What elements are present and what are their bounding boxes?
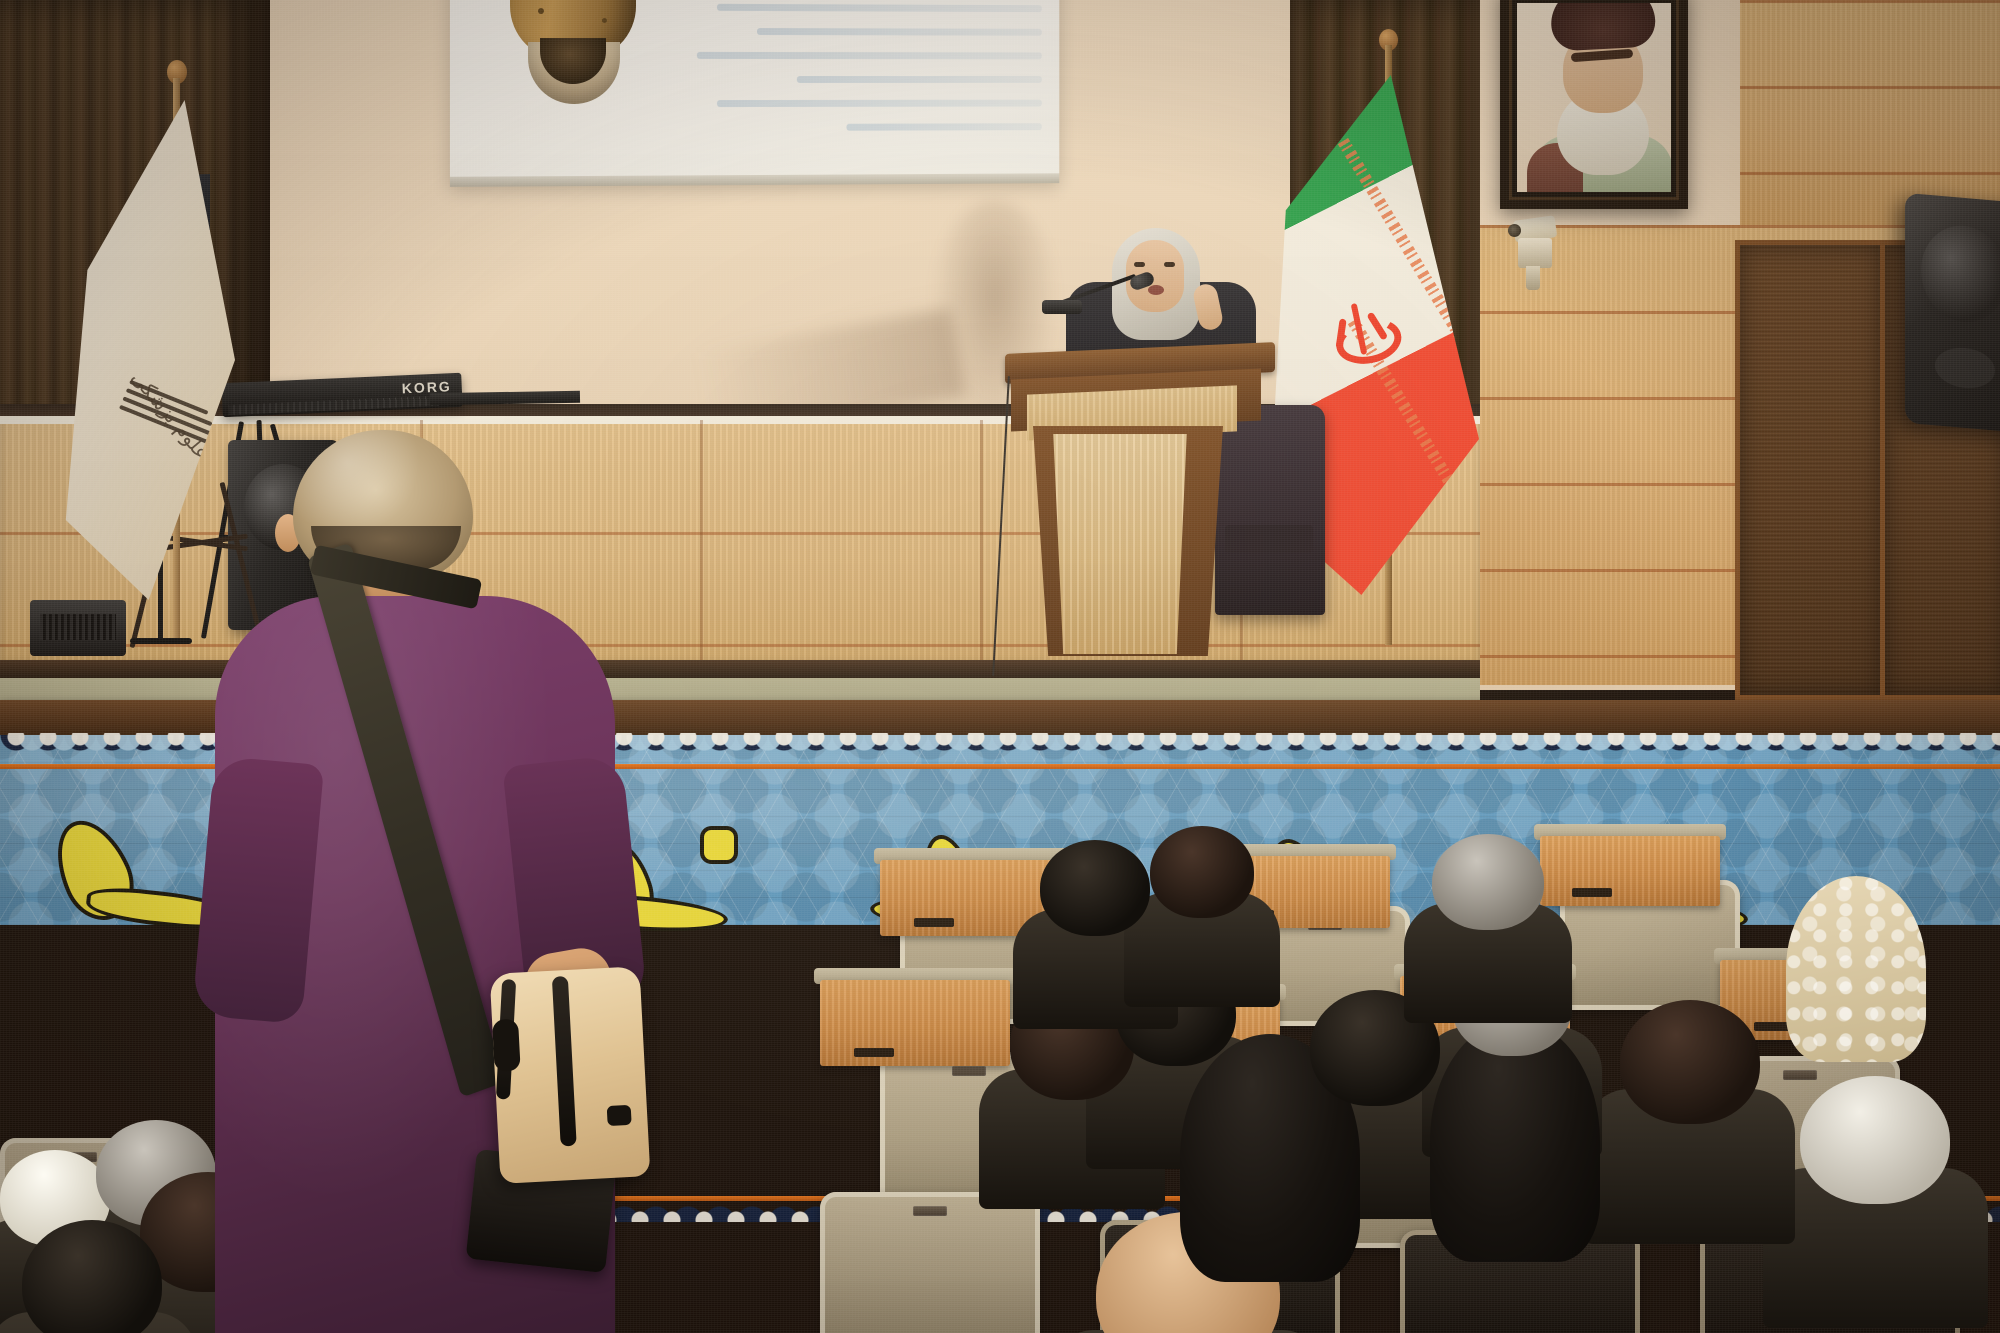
attendee	[1150, 826, 1254, 918]
attendee	[1620, 1000, 1760, 1124]
seat-number-plate	[952, 1066, 986, 1076]
wood-wall-panel-upper	[1740, 0, 2000, 230]
seat-writing-tablet	[1540, 836, 1720, 906]
slide-text-line	[797, 76, 1042, 83]
slide-text-line	[846, 123, 1041, 130]
wall-dark-panel-left	[1735, 240, 1885, 700]
slide-text-line	[717, 4, 1042, 12]
ptz-dome-camera-icon	[498, 0, 648, 115]
attendee	[1040, 840, 1150, 936]
standing-photographer	[215, 430, 635, 1333]
attendee	[1800, 1076, 1950, 1204]
photograph-scene: KORG دانشگاه علوم پزشکی	[0, 0, 2000, 1333]
attendee-chador	[1430, 1020, 1600, 1262]
camera-shoulder-bag	[490, 966, 651, 1184]
seat-number-plate	[1783, 1070, 1817, 1080]
pa-speaker	[1905, 193, 2000, 433]
speaker-podium	[1005, 330, 1295, 690]
iran-emblem-icon	[1326, 298, 1392, 361]
slide-text-line	[697, 52, 1042, 59]
seat-number-plate	[913, 1206, 947, 1216]
slide-text-line	[717, 100, 1042, 107]
attendee	[1432, 834, 1544, 930]
seat-writing-tablet	[820, 980, 1010, 1066]
framed-portrait	[1500, 0, 1688, 209]
slide-text-line	[757, 28, 1042, 36]
attendee-headscarf	[1786, 876, 1926, 1062]
wall-cctv-camera-icon	[1508, 218, 1560, 290]
